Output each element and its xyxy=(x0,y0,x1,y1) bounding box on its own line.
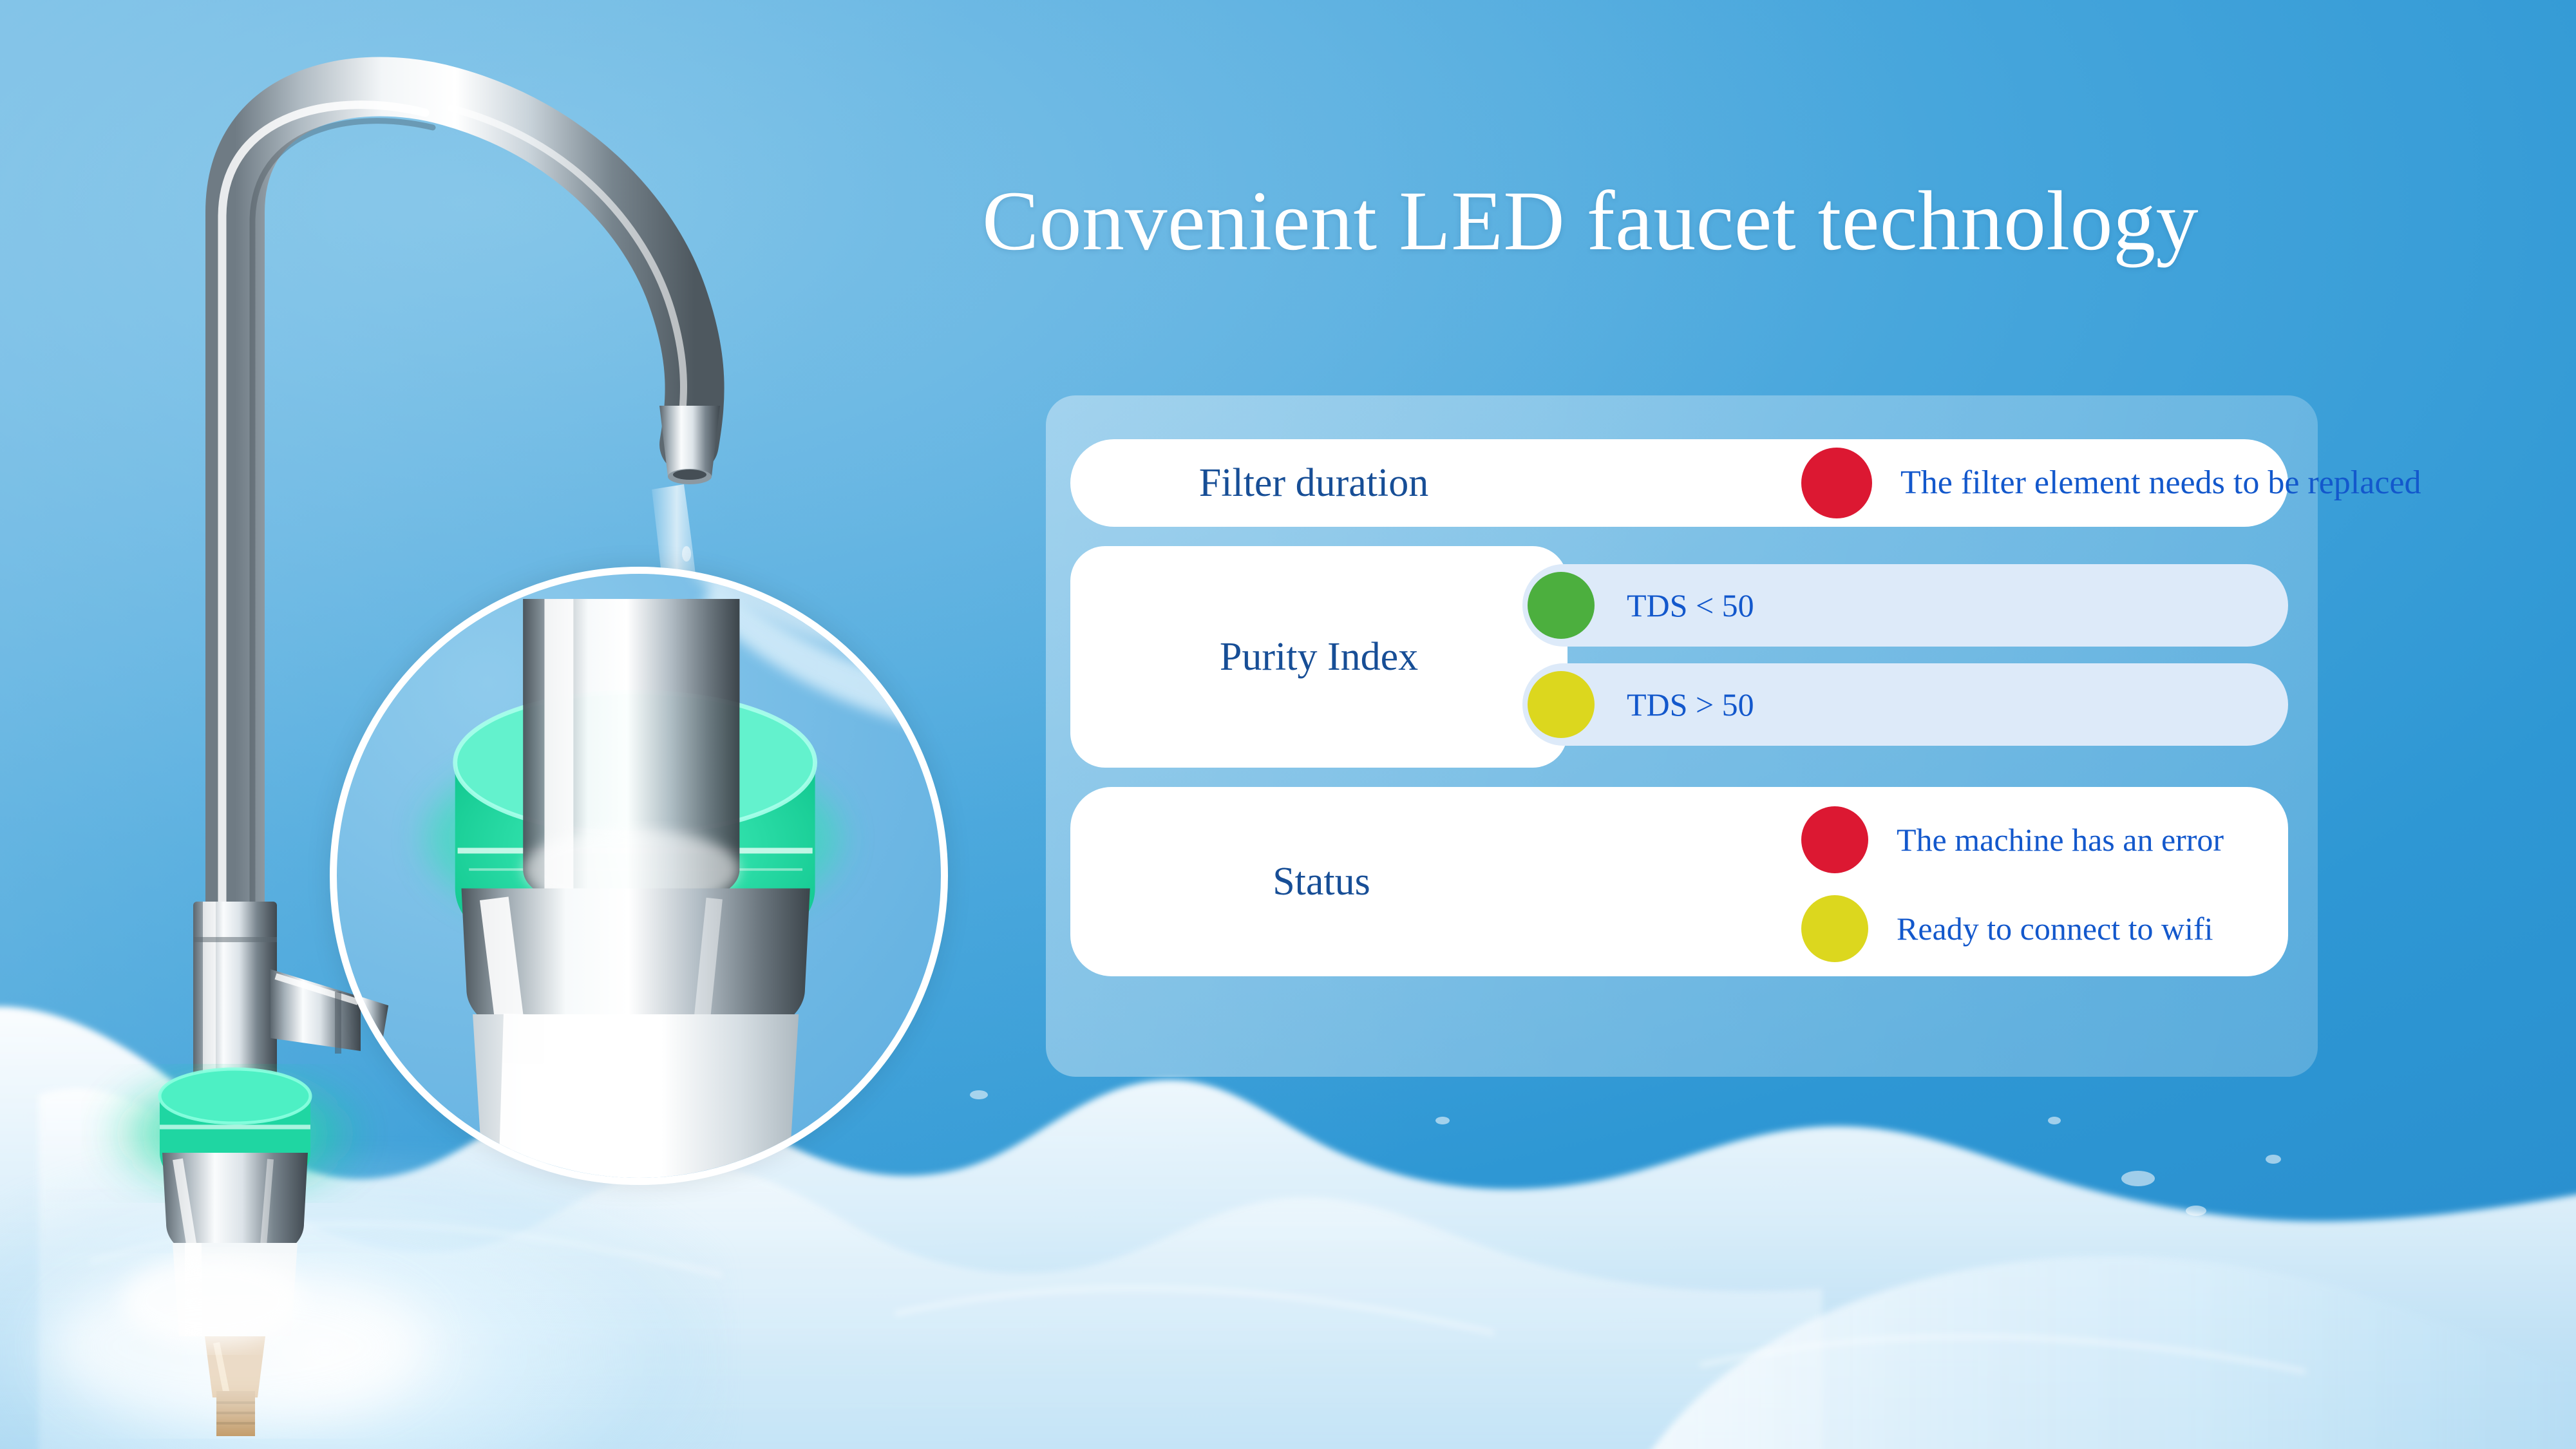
value-wifi-ready: Ready to connect to wifi xyxy=(1897,911,2213,947)
status-dot-yellow xyxy=(1801,895,1868,962)
status-dot-yellow xyxy=(1528,671,1595,738)
status-value-group: The machine has an error Ready to connec… xyxy=(1801,799,2224,970)
value-tds-high: TDS > 50 xyxy=(1627,687,1754,723)
page-title: Convenient LED faucet technology xyxy=(982,175,2463,267)
value-machine-error: The machine has an error xyxy=(1897,822,2224,858)
status-dot-red xyxy=(1801,806,1868,873)
label-purity-index: Purity Index xyxy=(1220,637,1418,677)
card-status[interactable]: Status The machine has an error Ready to… xyxy=(1070,787,2288,976)
label-status: Status xyxy=(1070,862,1573,902)
status-dot-green xyxy=(1528,572,1595,639)
row-purity-index: Purity Index TDS < 50 TDS > 50 xyxy=(1070,546,2288,768)
purity-index-values: TDS < 50 TDS > 50 xyxy=(1522,564,2288,746)
status-row-wifi[interactable]: Ready to connect to wifi xyxy=(1801,887,2224,970)
purity-pill-low-tds[interactable]: TDS < 50 xyxy=(1522,564,2288,647)
card-filter-duration[interactable]: Filter duration The filter element needs… xyxy=(1070,439,2288,527)
status-row-error[interactable]: The machine has an error xyxy=(1801,799,2224,881)
slide-stage: Convenient LED faucet technology Filter … xyxy=(0,0,2576,1449)
magnifier-inset xyxy=(330,567,948,1185)
value-filter-duration: The filter element needs to be replaced xyxy=(1900,464,2421,501)
status-dot-red xyxy=(1801,448,1872,518)
filter-duration-value-group: The filter element needs to be replaced xyxy=(1801,439,2421,527)
status-legend-panel: Filter duration The filter element needs… xyxy=(1046,395,2318,1077)
card-purity-index[interactable]: Purity Index xyxy=(1070,546,1567,768)
purity-pill-high-tds[interactable]: TDS > 50 xyxy=(1522,663,2288,746)
value-tds-low: TDS < 50 xyxy=(1627,588,1754,623)
